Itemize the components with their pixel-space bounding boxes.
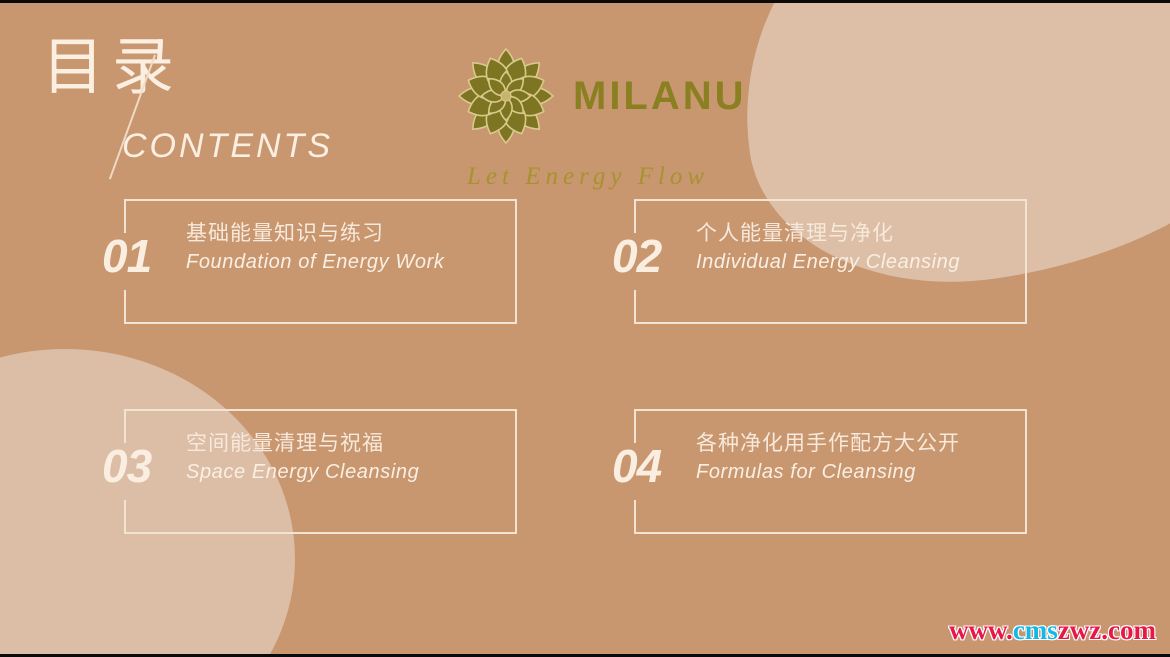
item-title-chinese: 基础能量知识与练习 [186,221,509,247]
site-watermark: www.cmszwz.com [949,615,1156,646]
item-frame-right [1025,199,1027,324]
item-frame-left-upper [124,199,126,233]
contents-item-01[interactable]: 01 基础能量知识与练习 Foundation of Energy Work [124,199,517,324]
item-frame-bottom [124,322,517,324]
item-text-group: 各种净化用手作配方大公开 Formulas for Cleansing [696,431,1019,484]
item-frame-left-lower [124,290,126,324]
page-title-chinese: 目录 [42,37,182,99]
item-frame-top [634,409,1027,411]
brand-tagline: Let Energy Flow [467,163,785,191]
decorative-blob-top-right-second [810,0,1170,223]
item-title-chinese: 空间能量清理与祝福 [186,431,509,457]
watermark-part-domain: zwz.com [1058,615,1156,645]
brand-block: MILANU Let Energy Flow [455,45,785,205]
item-title-chinese: 各种净化用手作配方大公开 [696,431,1019,457]
item-frame-bottom [634,322,1027,324]
mandala-lotus-icon [455,45,557,147]
item-number: 03 [102,443,151,489]
watermark-part-cms: cms [1013,615,1058,645]
item-frame-top [124,199,517,201]
brand-name: MILANU [573,74,747,119]
item-frame-bottom [634,532,1027,534]
item-number: 01 [102,233,151,279]
item-text-group: 基础能量知识与练习 Foundation of Energy Work [186,221,509,274]
item-frame-bottom [124,532,517,534]
contents-list: 01 基础能量知识与练习 Foundation of Energy Work 0… [0,199,1170,544]
item-number: 04 [612,443,661,489]
item-frame-left-lower [634,290,636,324]
item-frame-left-upper [634,199,636,233]
contents-item-02[interactable]: 02 个人能量清理与净化 Individual Energy Cleansing [634,199,1027,324]
item-frame-right [515,409,517,534]
item-title-english: Foundation of Energy Work [186,250,509,274]
contents-item-03[interactable]: 03 空间能量清理与祝福 Space Energy Cleansing [124,409,517,534]
item-frame-left-upper [634,409,636,443]
watermark-part-www: www. [949,615,1013,645]
contents-item-04[interactable]: 04 各种净化用手作配方大公开 Formulas for Cleansing [634,409,1027,534]
item-text-group: 个人能量清理与净化 Individual Energy Cleansing [696,221,1019,274]
item-text-group: 空间能量清理与祝福 Space Energy Cleansing [186,431,509,484]
item-title-english: Space Energy Cleansing [186,460,509,484]
item-title-english: Individual Energy Cleansing [696,250,1019,274]
page-title: 目录 CONTENTS [36,31,366,171]
item-frame-top [634,199,1027,201]
item-title-english: Formulas for Cleansing [696,460,1019,484]
item-frame-left-upper [124,409,126,443]
item-frame-left-lower [634,500,636,534]
item-frame-top [124,409,517,411]
item-frame-right [515,199,517,324]
item-frame-left-lower [124,500,126,534]
item-number: 02 [612,233,661,279]
item-title-chinese: 个人能量清理与净化 [696,221,1019,247]
presentation-slide: 目录 CONTENTS [0,0,1170,657]
page-title-english: CONTENTS [122,127,333,166]
item-frame-right [1025,409,1027,534]
